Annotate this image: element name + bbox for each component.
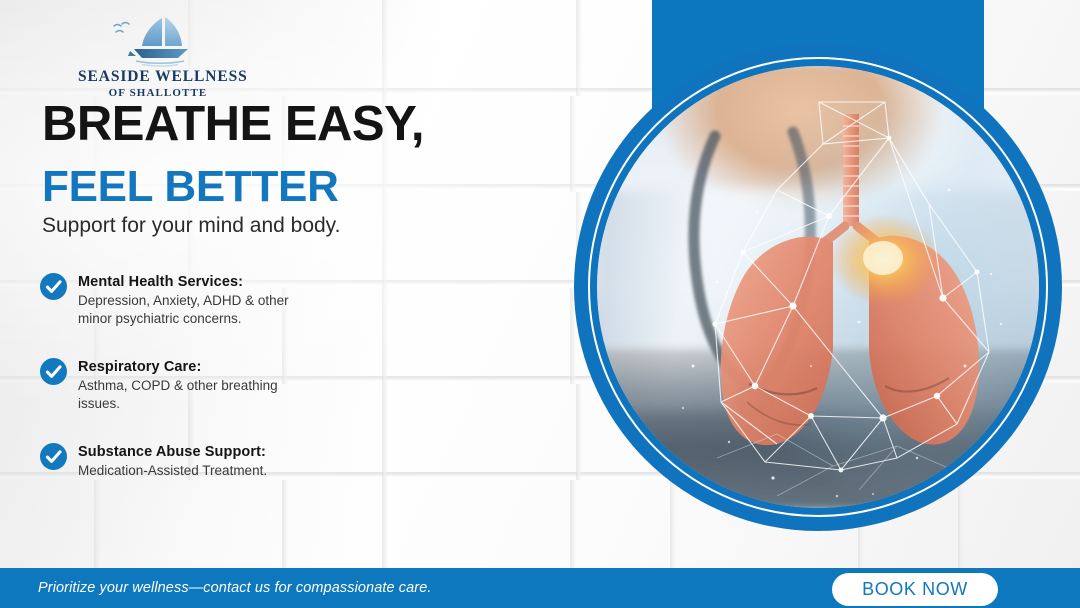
lungs-hologram-graphic (597, 66, 1039, 508)
footer-bar: Prioritize your wellness—contact us for … (0, 568, 1080, 608)
book-now-label: BOOK NOW (862, 579, 968, 600)
headline-line-1: BREATHE EASY, (42, 100, 424, 149)
service-title: Substance Abuse Support: (78, 443, 267, 461)
book-now-button[interactable]: BOOK NOW (832, 573, 998, 606)
promotional-banner: SEASIDE WELLNESS OF SHALLOTTE BREATHE EA… (0, 0, 1080, 608)
sailboat-icon (78, 14, 238, 68)
service-title: Mental Health Services: (78, 273, 318, 291)
service-description: Medication-Assisted Treatment. (78, 462, 267, 480)
service-description: Asthma, COPD & other breathing issues. (78, 377, 318, 414)
headline-line-2: FEEL BETTER (42, 165, 339, 209)
list-item: Respiratory Care: Asthma, COPD & other b… (40, 357, 370, 414)
services-list: Mental Health Services: Depression, Anxi… (40, 272, 370, 480)
doctor-lungs-photo (597, 66, 1039, 508)
check-circle-icon (40, 443, 67, 470)
list-item: Substance Abuse Support: Medication-Assi… (40, 442, 370, 480)
brand-logo[interactable]: SEASIDE WELLNESS OF SHALLOTTE (78, 14, 238, 99)
service-title: Respiratory Care: (78, 358, 318, 376)
hero-image-medallion (574, 43, 1062, 531)
service-description: Depression, Anxiety, ADHD & other minor … (78, 292, 318, 329)
list-item: Mental Health Services: Depression, Anxi… (40, 272, 370, 329)
check-circle-icon (40, 273, 67, 300)
subheadline: Support for your mind and body. (42, 214, 340, 238)
brand-name: SEASIDE WELLNESS (78, 68, 238, 85)
check-circle-icon (40, 358, 67, 385)
footer-message: Prioritize your wellness—contact us for … (38, 580, 432, 596)
